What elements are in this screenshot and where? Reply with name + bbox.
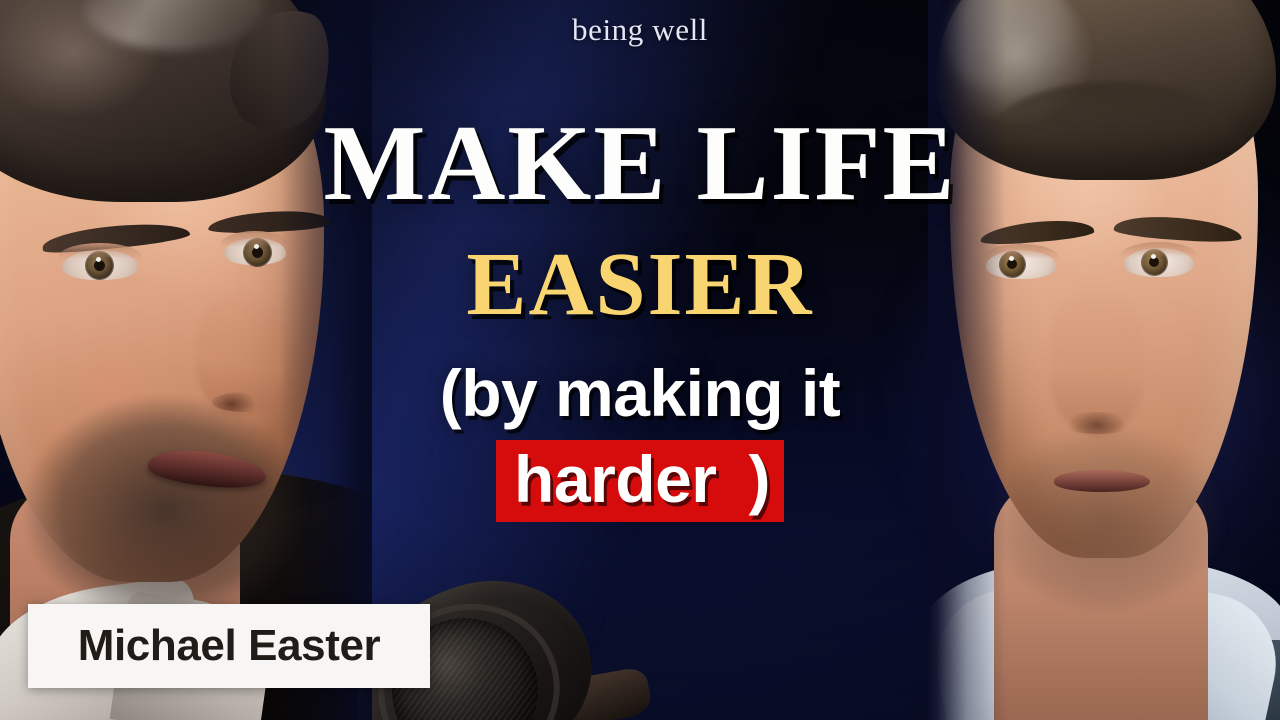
thumbnail-canvas: being well MAKE LIFE EASIER (by making i… <box>0 0 1280 720</box>
title-block: MAKE LIFE EASIER (by making it harder) <box>0 110 1280 522</box>
subtitle-line-1: (by making it <box>0 360 1280 426</box>
highlight-badge-harder: harder <box>496 440 730 522</box>
brand-logo-text: being well <box>0 12 1280 48</box>
title-line-2-accent: EASIER <box>0 240 1280 330</box>
title-line-1: MAKE LIFE <box>0 110 1280 218</box>
subtitle-closing-paren: ) <box>730 440 783 522</box>
guest-name-label: Michael Easter <box>78 621 381 671</box>
guest-nameplate: Michael Easter <box>28 604 430 688</box>
subtitle-line-2: harder) <box>0 440 1280 522</box>
